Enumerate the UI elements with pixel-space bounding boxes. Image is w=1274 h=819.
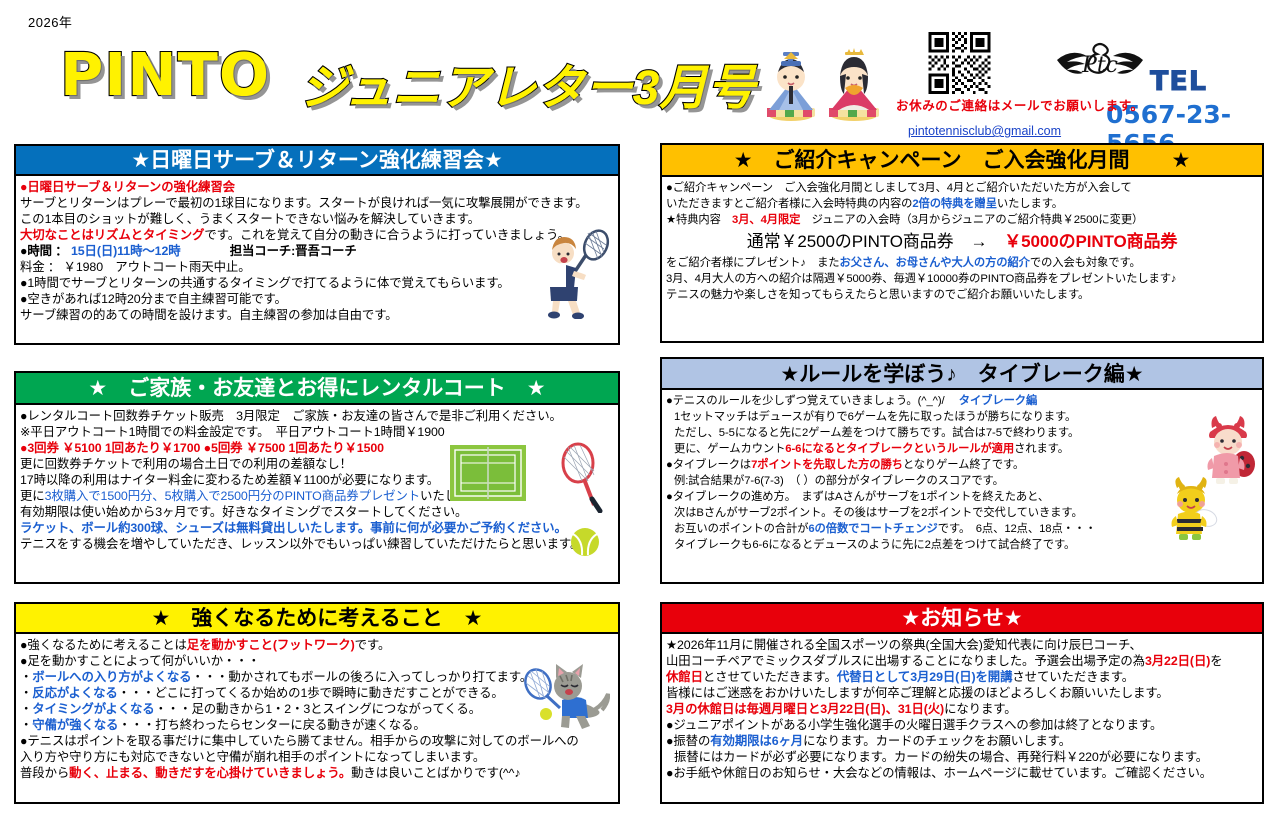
text-line: ●テニスのルールを少しずつ覚えていきましょう。(^_^)/ タイブレーク編 bbox=[666, 393, 1258, 409]
panel-body-learn-rules: ●テニスのルールを少しずつ覚えていきましょう。(^_^)/ タイブレーク編 1セ… bbox=[662, 390, 1262, 553]
panel-body-announcements: ★2026年11月に開催される全国スポーツの祭典(全国大会)愛知代表に向け辰巳コ… bbox=[662, 634, 1262, 781]
bee-character-icon bbox=[1166, 476, 1218, 542]
page-title-subtitle: ジュニアレター3月号 bbox=[300, 48, 755, 118]
text-line: 料金 ： ￥1980 アウトコート雨天中止。 bbox=[20, 259, 614, 275]
text-line: 3月、4月大人の方への紹介は隔週￥5000券、毎週￥10000券のPINTO商品… bbox=[666, 271, 1258, 287]
text-line: ★特典内容 3月、4月限定 ジュニアの入会時（3月からジュニアのご紹介特典￥25… bbox=[666, 212, 1258, 228]
text-line: 有効期限は使い始めから3ヶ月です。好きなタイミングでスタートしてください。 bbox=[20, 504, 614, 520]
panel-referral-campaign: ★ ご紹介キャンペーン ご入会強化月間 ★ ●ご紹介キャンペーン ご入会強化月間… bbox=[660, 143, 1264, 343]
panel-title-get-stronger: ★ 強くなるために考えること ★ bbox=[16, 604, 618, 634]
hina-dolls-icon bbox=[757, 44, 889, 124]
text-line: テニスの魅力や楽しさを知ってもらえたらと思いますのでご紹介お願いいたします。 bbox=[666, 287, 1258, 303]
text-line: 通常￥2500のPINTO商品券 → ￥5000のPINTO商品券 bbox=[666, 228, 1258, 255]
panel-body-serve-return: ●日曜日サーブ＆リターンの強化練習会 サーブとリターンはプレーで最初の1球目にな… bbox=[16, 176, 618, 323]
tel-label: TEL bbox=[1150, 66, 1207, 97]
text-line: ※平日アウトコート1時間での料金設定です。 平日アウトコート1時間￥1900 bbox=[20, 424, 614, 440]
qr-code-icon bbox=[928, 32, 991, 94]
text-line: ●ジュニアポイントがある小学生強化選手の火曜日選手クラスへの参加は終了となります… bbox=[666, 717, 1258, 733]
text-line: ラケット、ボール約300球、シューズは無料貸出しいたします。事前に何が必要かご予… bbox=[20, 520, 614, 536]
text-line: ●ご紹介キャンペーン ご入会強化月間としまして3月、4月とご紹介いただいた方が入… bbox=[666, 180, 1258, 196]
text-line: ●日曜日サーブ＆リターンの強化練習会 bbox=[20, 179, 614, 195]
text-line: ただし、5-5になると先に2ゲーム差をつけて勝ちです。試合は7-5で終わります。 bbox=[666, 425, 1258, 441]
text-line: ●レンタルコート回数券チケット販売 3月限定 ご家族・お友達の皆さんで是非ご利用… bbox=[20, 408, 614, 424]
text-line: ★2026年11月に開催される全国スポーツの祭典(全国大会)愛知代表に向け辰巳コ… bbox=[666, 637, 1258, 653]
mail-note: お休みのご連絡はメールでお願いします。 bbox=[896, 95, 1144, 114]
panel-title-announcements: ★お知らせ★ bbox=[662, 604, 1262, 634]
page-title: PINTO ジュニアレター3月号 bbox=[60, 44, 760, 108]
text-line: 更に、ゲームカウント6-6になるとタイブレークというルールが適用されます。 bbox=[666, 441, 1258, 457]
text-line: をご紹介者様にプレゼント♪ またお父さん、お母さんや大人の方の紹介での入会も対象… bbox=[666, 255, 1258, 271]
panel-body-get-stronger: ●強くなるために考えることは足を動かすこと(フットワーク)です。 ●足を動かすこ… bbox=[16, 634, 618, 781]
boy-tennis-player-icon bbox=[534, 227, 610, 319]
panel-learn-rules: ★ルールを学ぼう♪ タイブレーク編★ ●テニスのルールを少しずつ覚えていきましょ… bbox=[660, 357, 1264, 584]
email-link[interactable]: pintotennisclub@gmail.com bbox=[908, 124, 1061, 138]
text-line: テニスをする機会を増やしていただき、レッスン以外でもいっぱい練習していただけたら… bbox=[20, 536, 614, 552]
panel-get-stronger: ★ 強くなるために考えること ★ ●強くなるために考えることは足を動かすこと(フ… bbox=[14, 602, 620, 804]
text-line: ●1時間でサーブとリターンの共通するタイミングで打てるように体で覚えてもらいます… bbox=[20, 275, 614, 291]
text-line: 大切なことはリズムとタイミングです。これを覚えて自分の動きに合うように打っていき… bbox=[20, 227, 614, 243]
text-line: 山田コーチペアでミックスダブルスに出場することになりました。予選会出場予定の為3… bbox=[666, 653, 1258, 669]
tennis-racket-icon bbox=[554, 441, 606, 513]
text-line: 休館日とさせていただきます。代替日として3月29日(日)を開講させていただきます… bbox=[666, 669, 1258, 685]
text-line: この1本目のショットが難しく、うまくスタートできない悩みを解決していきます。 bbox=[20, 211, 614, 227]
panel-rental-court: ★ ご家族・お友達とお得にレンタルコート ★ ●レンタルコート回数券チケット販売… bbox=[14, 371, 620, 584]
year-label: 2026年 bbox=[28, 12, 72, 31]
panel-serve-return: ★日曜日サーブ＆リターン強化練習会★ ●日曜日サーブ＆リターンの強化練習会 サー… bbox=[14, 144, 620, 345]
panel-title-rental-court: ★ ご家族・お友達とお得にレンタルコート ★ bbox=[16, 373, 618, 405]
text-line: ●振替の有効期限は6ヶ月になります。カードのチェックをお願いします。 bbox=[666, 733, 1258, 749]
text-line: 普段から動く、止まる、動きだすを心掛けていきましょう。動きは良いことばかりです(… bbox=[20, 765, 614, 781]
text-line: ●お手紙や休館日のお知らせ・大会などの情報は、ホームページに載せています。ご確認… bbox=[666, 765, 1258, 781]
text-line: 振替にはカードが必ず必要になります。カードの紛失の場合、再発行料￥220が必要に… bbox=[666, 749, 1258, 765]
text-line: 3月の休館日は毎週月曜日と3月22日(日)、31日(火)になります。 bbox=[666, 701, 1258, 717]
text-line: サーブ練習の的あての時間を設けます。自主練習の参加は自由です。 bbox=[20, 307, 614, 323]
text-line: 1セットマッチはデュースが有りで6ゲームを先に取ったほうが勝ちになります。 bbox=[666, 409, 1258, 425]
panel-body-referral-campaign: ●ご紹介キャンペーン ご入会強化月間としまして3月、4月とご紹介いただいた方が入… bbox=[662, 177, 1262, 303]
cat-tennis-player-icon bbox=[516, 656, 610, 734]
text-line: ●時間 ： 15日(日)11時～12時 担当コーチ:晋吾コーチ bbox=[20, 243, 614, 259]
text-line: ●テニスはポイントを取る事だけに集中していたら勝てません。相手からの攻撃に対して… bbox=[20, 733, 614, 749]
text-line: いただきますとご紹介者様に入会時特典の内容の2倍の特典を贈呈いたします。 bbox=[666, 196, 1258, 212]
tennis-ball-icon bbox=[570, 527, 600, 557]
panel-announcements: ★お知らせ★ ★2026年11月に開催される全国スポーツの祭典(全国大会)愛知代… bbox=[660, 602, 1264, 804]
text-line: 入り方や守り方にも対応できないと守備が崩れ相手のポイントになってしまいます。 bbox=[20, 749, 614, 765]
panel-body-rental-court: ●レンタルコート回数券チケット販売 3月限定 ご家族・お友達の皆さんで是非ご利用… bbox=[16, 405, 618, 552]
panel-title-learn-rules: ★ルールを学ぼう♪ タイブレーク編★ bbox=[662, 359, 1262, 390]
winged-ptc-logo-icon: Ptc bbox=[1055, 38, 1145, 90]
page-title-brand: PINTO bbox=[60, 40, 270, 109]
panel-title-referral-campaign: ★ ご紹介キャンペーン ご入会強化月間 ★ bbox=[662, 145, 1262, 177]
text-line: 皆様にはご迷惑をおかけいたしますが何卒ご理解と応援のほどよろしくお願いいたします… bbox=[666, 685, 1258, 701]
text-line: ●空きがあれば12時20分まで自主練習可能です。 bbox=[20, 291, 614, 307]
panel-title-serve-return: ★日曜日サーブ＆リターン強化練習会★ bbox=[16, 146, 618, 176]
svg-text:Ptc: Ptc bbox=[1081, 53, 1118, 78]
text-line: ●強くなるために考えることは足を動かすこと(フットワーク)です。 bbox=[20, 637, 614, 653]
text-line: サーブとリターンはプレーで最初の1球目になります。スタートが良ければ一気に攻撃展… bbox=[20, 195, 614, 211]
text-line: ●タイブレークは7ポイントを先取した方の勝ちとなりゲーム終了です。 bbox=[666, 457, 1258, 473]
newsletter-header: 2026年 PINTO ジュニアレター3月号 bbox=[0, 0, 1274, 132]
tennis-court-icon bbox=[450, 445, 526, 501]
